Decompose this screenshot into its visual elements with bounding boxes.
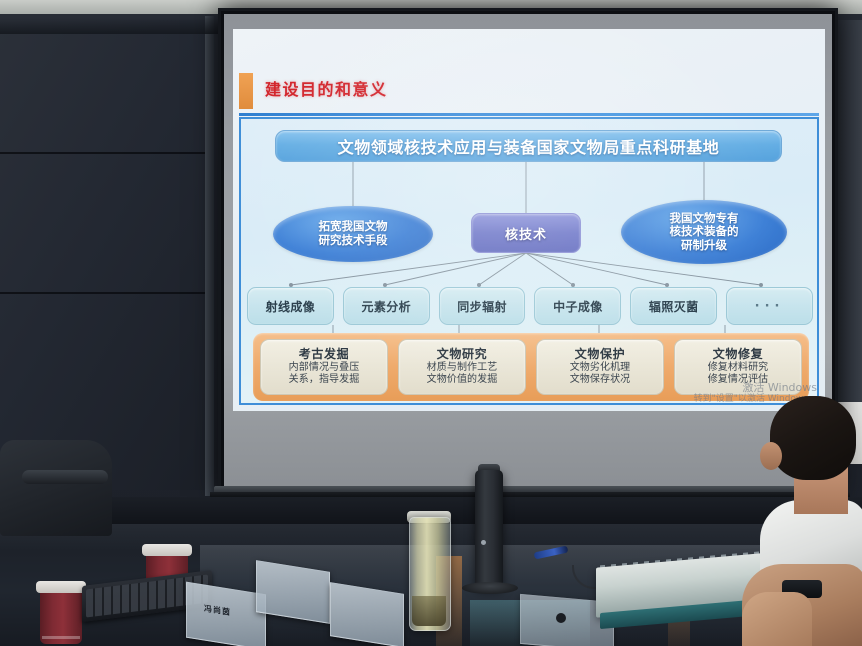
microphone[interactable] <box>475 470 503 588</box>
application-line: 文物劣化机理 <box>570 362 631 375</box>
small-object <box>556 613 566 623</box>
title-divider <box>239 113 819 116</box>
left-wall-panel <box>0 20 212 490</box>
application-card: 考古发掘 内部情况与叠压 关系，指导发掘 <box>260 339 388 395</box>
application-title: 文物修复 <box>713 347 763 362</box>
goal-left-label: 拓宽我国文物研究技术手段 <box>319 220 388 247</box>
right-wall-panel <box>834 20 862 450</box>
application-line: 关系，指导发掘 <box>289 374 360 387</box>
application-card: 文物研究 材质与制作工艺 文物价值的发掘 <box>398 339 526 395</box>
attendee-hand <box>742 592 812 646</box>
coffee-cup-band <box>42 636 80 639</box>
presentation-slide: 建设目的和意义 <box>233 29 825 411</box>
attendee-head <box>770 396 856 480</box>
application-line: 文物保存状况 <box>570 374 631 387</box>
technology-row: 射线成像 元素分析 同步辐射 中子成像 辐照灭菌 ··· <box>247 287 813 325</box>
application-card: 文物修复 修复材料研究 修复情况评估 <box>674 339 802 395</box>
tech-box: 中子成像 <box>534 287 621 325</box>
microphone-base <box>462 582 518 594</box>
slide-header-text: 文物领域核技术应用与装备国家文物局重点科研基地 <box>338 134 720 158</box>
application-line: 内部情况与叠压 <box>289 362 360 375</box>
attendee <box>742 396 862 646</box>
core-technology-label: 核技术 <box>505 224 547 243</box>
tech-box: 射线成像 <box>247 287 334 325</box>
tech-box: 元素分析 <box>343 287 430 325</box>
chair-armrest <box>22 470 108 484</box>
application-line: 修复材料研究 <box>708 362 769 375</box>
name-placard <box>330 582 404 646</box>
application-line: 修复情况评估 <box>708 374 769 387</box>
tech-box-ellipsis: ··· <box>726 287 813 325</box>
application-line: 材质与制作工艺 <box>427 362 498 375</box>
core-technology-box: 核技术 <box>471 213 581 253</box>
microphone-indicator <box>481 540 486 545</box>
coffee-cup-lid <box>36 581 86 593</box>
application-title: 文物研究 <box>437 347 487 362</box>
goal-ellipse-left: 拓宽我国文物研究技术手段 <box>273 206 433 262</box>
wall-seam <box>0 152 212 154</box>
slide-title: 建设目的和意义 <box>265 76 388 100</box>
wall-seam <box>0 292 212 294</box>
conference-room-scene: 建设目的和意义 <box>0 0 862 646</box>
slide-header-box: 文物领域核技术应用与装备国家文物局重点科研基地 <box>275 130 782 162</box>
goal-right-label: 我国文物专有核技术装备的研制升级 <box>670 212 739 253</box>
tea-leaves <box>412 596 446 626</box>
ceiling-shadow <box>0 18 230 34</box>
goal-ellipse-right: 我国文物专有核技术装备的研制升级 <box>621 200 787 264</box>
office-chair <box>0 440 112 536</box>
tech-box: 同步辐射 <box>439 287 526 325</box>
title-accent-bar <box>239 73 253 109</box>
application-title: 考古发掘 <box>299 347 349 362</box>
application-row: 考古发掘 内部情况与叠压 关系，指导发掘 文物研究 材质与制作工艺 文物价值的发… <box>260 339 802 395</box>
application-card: 文物保护 文物劣化机理 文物保存状况 <box>536 339 664 395</box>
tech-box: 辐照灭菌 <box>630 287 717 325</box>
coffee-cup-lid <box>142 544 192 556</box>
attendee-ear <box>760 442 782 470</box>
application-title: 文物保护 <box>575 347 625 362</box>
wall-column-edge <box>205 16 214 496</box>
application-line: 文物价值的发掘 <box>427 374 498 387</box>
